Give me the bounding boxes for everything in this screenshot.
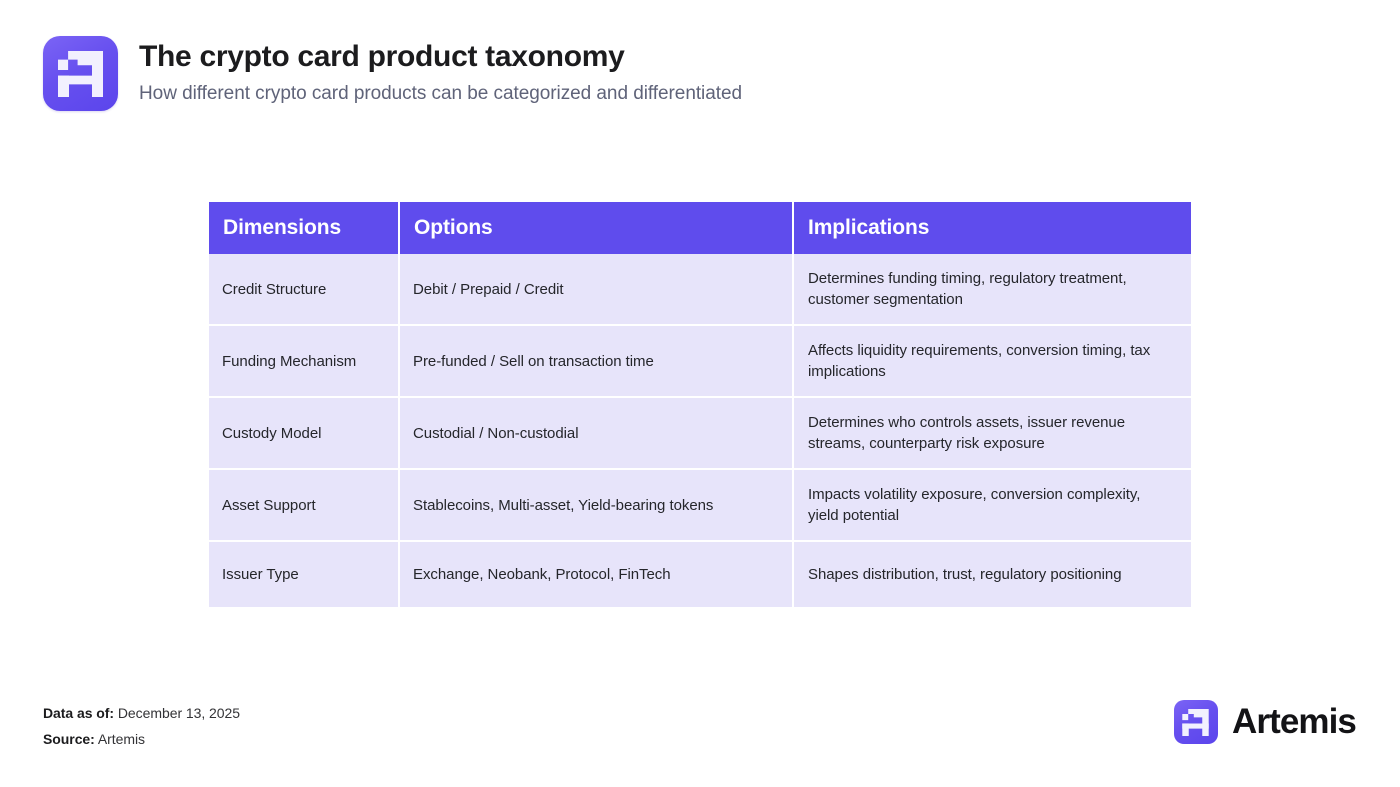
header: The crypto card product taxonomy How dif… bbox=[43, 36, 742, 111]
data-as-of-label: Data as of: bbox=[43, 705, 114, 721]
table-row: Funding Mechanism Pre-funded / Sell on t… bbox=[209, 326, 1191, 398]
column-header-dimensions: Dimensions bbox=[209, 202, 400, 254]
cell-dimension: Issuer Type bbox=[209, 542, 400, 607]
cell-implications: Shapes distribution, trust, regulatory p… bbox=[794, 542, 1191, 607]
cell-implications: Determines funding timing, regulatory tr… bbox=[794, 254, 1191, 326]
table-row: Custody Model Custodial / Non-custodial … bbox=[209, 398, 1191, 470]
source-value: Artemis bbox=[98, 731, 145, 747]
artemis-wordmark: Artemis bbox=[1232, 702, 1356, 742]
table-row: Asset Support Stablecoins, Multi-asset, … bbox=[209, 470, 1191, 542]
column-header-options: Options bbox=[400, 202, 794, 254]
artemis-logo-icon bbox=[1174, 700, 1218, 744]
cell-dimension: Credit Structure bbox=[209, 254, 400, 326]
slide-canvas: The crypto card product taxonomy How dif… bbox=[0, 0, 1400, 787]
cell-dimension: Custody Model bbox=[209, 398, 400, 470]
cell-options: Exchange, Neobank, Protocol, FinTech bbox=[400, 542, 794, 607]
data-as-of-line: Data as of: December 13, 2025 bbox=[43, 700, 240, 726]
taxonomy-table: Dimensions Options Implications Credit S… bbox=[209, 202, 1191, 607]
source-line: Source: Artemis bbox=[43, 726, 240, 752]
cell-options: Stablecoins, Multi-asset, Yield-bearing … bbox=[400, 470, 794, 542]
source-label: Source: bbox=[43, 731, 95, 747]
footer-brand: Artemis bbox=[1174, 700, 1356, 744]
table-header-row: Dimensions Options Implications bbox=[209, 202, 1191, 254]
page-subtitle: How different crypto card products can b… bbox=[139, 82, 742, 106]
table-body: Credit Structure Debit / Prepaid / Credi… bbox=[209, 254, 1191, 607]
cell-implications: Affects liquidity requirements, conversi… bbox=[794, 326, 1191, 398]
page-title: The crypto card product taxonomy bbox=[139, 39, 742, 75]
artemis-logo-icon bbox=[43, 36, 118, 111]
table-row: Credit Structure Debit / Prepaid / Credi… bbox=[209, 254, 1191, 326]
data-as-of-value: December 13, 2025 bbox=[118, 705, 240, 721]
column-header-implications: Implications bbox=[794, 202, 1191, 254]
table-row: Issuer Type Exchange, Neobank, Protocol,… bbox=[209, 542, 1191, 607]
cell-implications: Impacts volatility exposure, conversion … bbox=[794, 470, 1191, 542]
cell-implications: Determines who controls assets, issuer r… bbox=[794, 398, 1191, 470]
header-text-block: The crypto card product taxonomy How dif… bbox=[139, 36, 742, 106]
cell-options: Custodial / Non-custodial bbox=[400, 398, 794, 470]
table-header: Dimensions Options Implications bbox=[209, 202, 1191, 254]
cell-dimension: Funding Mechanism bbox=[209, 326, 400, 398]
cell-options: Pre-funded / Sell on transaction time bbox=[400, 326, 794, 398]
footer-note: Data as of: December 13, 2025 Source: Ar… bbox=[43, 700, 240, 752]
cell-dimension: Asset Support bbox=[209, 470, 400, 542]
taxonomy-table-container: Dimensions Options Implications Credit S… bbox=[209, 202, 1191, 607]
cell-options: Debit / Prepaid / Credit bbox=[400, 254, 794, 326]
